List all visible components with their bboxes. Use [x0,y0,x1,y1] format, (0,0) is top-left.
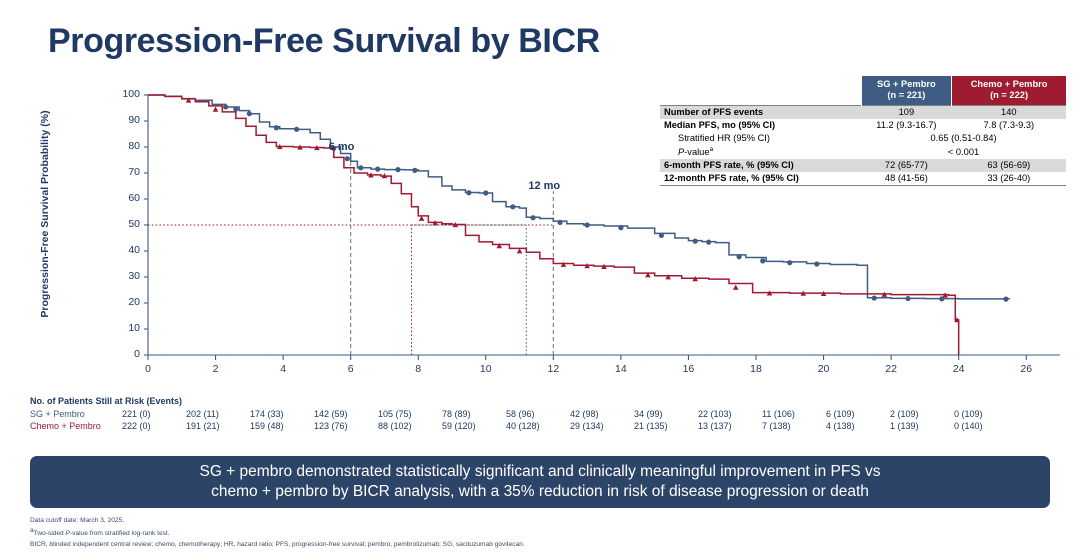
stats-row-value-chemo: 140 [952,105,1066,119]
censor-mark [274,125,279,130]
y-tick-90: 90 [108,114,140,126]
y-tick-100: 100 [108,88,140,100]
stats-row: Median PFS, mo (95% CI)11.2 (9.3-16.7)7.… [660,119,1066,132]
censor-mark [233,106,238,111]
stats-row-label-italic: P [678,147,684,157]
risk-row-value: 0 (109) [954,408,1018,420]
censor-mark [1003,297,1008,302]
censor-mark [585,222,590,227]
stats-table: SG + Pembro (n = 221) Chemo + Pembro (n … [660,76,1066,186]
censor-mark [787,260,792,265]
footnote-abbreviations: BICR, blinded independent central review… [30,540,1060,550]
risk-row-value: 78 (89) [442,408,506,420]
censor-mark [733,285,739,290]
x-tick-16: 16 [676,363,700,375]
censor-mark [706,240,711,245]
stats-header-sg: SG + Pembro (n = 221) [861,76,952,105]
stats-row-footnote-marker: a [710,146,714,153]
annotation-6mo: 6 mo [329,141,355,153]
risk-row-value: 22 (103) [698,408,762,420]
footnote-pvalue-b: -value from stratified log-rank test. [70,530,170,537]
risk-row-value: 59 (120) [442,420,506,432]
y-tick-0: 0 [108,348,140,360]
stats-row-value-sg: 11.2 (9.3-16.7) [861,119,952,132]
censor-mark [247,111,252,116]
risk-table-grid: SG + Pembro221 (0)202 (11)174 (33)142 (5… [30,408,1018,432]
risk-table: No. of Patients Still at Risk (Events) S… [30,396,1018,432]
stats-row-value-sg: 72 (65-77) [861,159,952,172]
censor-mark [814,261,819,266]
page-title: Progression-Free Survival by BICR [48,22,600,61]
stats-header-sg-n: (n = 221) [887,90,925,100]
stats-header-blank [660,76,861,105]
x-tick-22: 22 [879,363,903,375]
stats-row-label: Stratified HR (95% CI) [660,132,861,145]
stats-header-chemo: Chemo + Pembro (n = 222) [952,76,1066,105]
stats-row-value-chemo: 7.8 (7.3-9.3) [952,119,1066,132]
x-tick-4: 4 [271,363,295,375]
stats-row: Stratified HR (95% CI)0.65 (0.51-0.84) [660,132,1066,145]
risk-row-value: 7 (138) [762,420,826,432]
censor-mark [561,262,567,267]
risk-row-value: 159 (48) [250,420,314,432]
risk-row-value: 191 (21) [186,420,250,432]
x-tick-24: 24 [947,363,971,375]
x-tick-20: 20 [812,363,836,375]
risk-row-value: 13 (137) [698,420,762,432]
stats-row-value-chemo: 63 (56-69) [952,159,1066,172]
stats-row: 6-month PFS rate, % (95% CI)72 (65-77)63… [660,159,1066,172]
conclusion-text: SG + pembro demonstrated statistically s… [199,462,880,503]
censor-mark [213,107,219,112]
y-tick-10: 10 [108,322,140,334]
stats-row-value-span: 0.65 (0.51-0.84) [861,132,1066,145]
stats-row: P-valuea< 0.001 [660,145,1066,159]
risk-row-value: 40 (128) [506,420,570,432]
stats-row-label: Median PFS, mo (95% CI) [660,119,861,132]
x-tick-8: 8 [406,363,430,375]
risk-row-value: 21 (135) [634,420,698,432]
x-tick-0: 0 [136,363,160,375]
y-tick-70: 70 [108,166,140,178]
y-tick-30: 30 [108,270,140,282]
stats-row-label: 12-month PFS rate, % (95% CI) [660,172,861,186]
x-tick-10: 10 [474,363,498,375]
censor-mark [760,258,765,263]
censor-mark [345,156,350,161]
conclusion-line-1: SG + pembro demonstrated statistically s… [199,463,880,480]
x-tick-2: 2 [204,363,228,375]
censor-mark [510,204,515,209]
risk-row-value: 11 (106) [762,408,826,420]
y-axis-label: Progression-Free Survival Probability (%… [39,99,51,329]
censor-mark [737,254,742,259]
x-tick-6: 6 [339,363,363,375]
stats-row: 12-month PFS rate, % (95% CI)48 (41-56)3… [660,172,1066,186]
risk-row-value: 174 (33) [250,408,314,420]
stats-row-label: Number of PFS events [660,105,861,119]
y-tick-50: 50 [108,218,140,230]
stats-row-label: 6-month PFS rate, % (95% CI) [660,159,861,172]
x-tick-18: 18 [744,363,768,375]
risk-row-value: 29 (134) [570,420,634,432]
censor-mark [557,220,562,225]
stats-table-head: SG + Pembro (n = 221) Chemo + Pembro (n … [660,76,1066,105]
conclusion-banner: SG + pembro demonstrated statistically s… [30,456,1050,508]
conclusion-line-2: chemo + pembro by BICR analysis, with a … [211,483,869,500]
risk-row-value: 105 (75) [378,408,442,420]
risk-row-label: Chemo + Pembro [30,420,122,432]
risk-row-value: 6 (109) [826,408,890,420]
censor-mark [223,104,228,109]
risk-row-value: 123 (76) [314,420,378,432]
risk-row-value: 88 (102) [378,420,442,432]
x-tick-12: 12 [541,363,565,375]
risk-row-value: 58 (96) [506,408,570,420]
stats-row-value-chemo: 33 (26-40) [952,172,1066,186]
stats-row: Number of PFS events109140 [660,105,1066,119]
stats-row-value-span: < 0.001 [861,145,1066,159]
risk-row-value: 222 (0) [122,420,186,432]
censor-mark [395,167,400,172]
y-tick-60: 60 [108,192,140,204]
risk-row-value: 0 (140) [954,420,1018,432]
stats-header-sg-name: SG + Pembro [877,79,936,89]
risk-row-value: 4 (138) [826,420,890,432]
censor-mark [358,165,363,170]
slide-root: Progression-Free Survival by BICR Progre… [0,0,1080,555]
stats-row-value-sg: 109 [861,105,952,119]
censor-mark [659,233,664,238]
stats-header-chemo-n: (n = 222) [990,90,1028,100]
risk-table-title: No. of Patients Still at Risk (Events) [30,396,1018,406]
censor-mark [294,127,299,132]
x-tick-26: 26 [1014,363,1038,375]
y-tick-80: 80 [108,140,140,152]
risk-table-row: SG + Pembro221 (0)202 (11)174 (33)142 (5… [30,408,1018,420]
risk-row-value: 42 (98) [570,408,634,420]
footnotes: Data cutoff date: March 3, 2025. aTwo-si… [30,516,1060,550]
censor-mark [375,167,380,172]
risk-table-row: Chemo + Pembro222 (0)191 (21)159 (48)123… [30,420,1018,432]
x-tick-14: 14 [609,363,633,375]
footnote-pvalue: aTwo-sided P-value from stratified log-r… [30,526,1060,539]
annotation-12mo: 12 mo [528,180,560,192]
risk-row-value: 34 (99) [634,408,698,420]
risk-row-label: SG + Pembro [30,408,122,420]
censor-mark [905,296,910,301]
censor-mark [693,239,698,244]
y-tick-40: 40 [108,244,140,256]
censor-mark [466,190,471,195]
risk-row-value: 1 (139) [890,420,954,432]
censor-mark [412,168,417,173]
censor-mark [483,190,488,195]
footnote-pvalue-a: Two-sided [34,530,66,537]
censor-mark [872,295,877,300]
risk-row-value: 221 (0) [122,408,186,420]
stats-table-body: Number of PFS events109140Median PFS, mo… [660,105,1066,185]
risk-table-body: SG + Pembro221 (0)202 (11)174 (33)142 (5… [30,408,1018,432]
stats-row-value-sg: 48 (41-56) [861,172,952,186]
stats-row-label: P-valuea [660,145,861,159]
stats-header-chemo-name: Chemo + Pembro [971,79,1048,89]
risk-row-value: 2 (109) [890,408,954,420]
censor-mark [618,225,623,230]
risk-row-value: 202 (11) [186,408,250,420]
y-tick-20: 20 [108,296,140,308]
censor-mark [530,215,535,220]
footnote-data-cutoff: Data cutoff date: March 3, 2025. [30,516,1060,526]
risk-row-value: 142 (59) [314,408,378,420]
